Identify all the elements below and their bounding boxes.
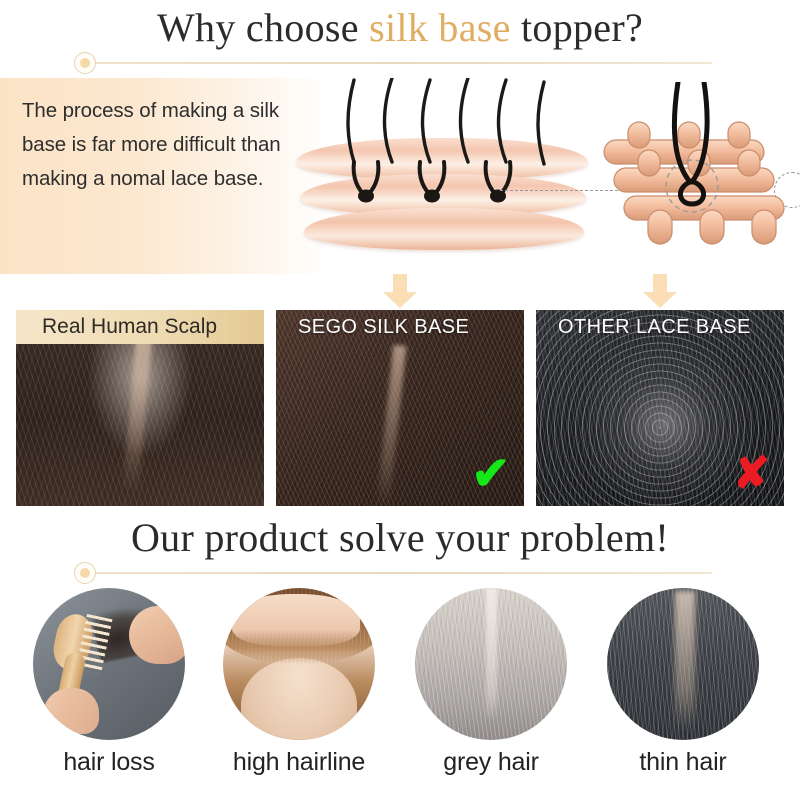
arrow-down-to-other: [643, 274, 677, 308]
section-title: Our product solve your problem!: [0, 514, 800, 561]
panel-real-human-scalp[interactable]: Real Human Scalp: [16, 310, 264, 506]
panel-label-real-scalp: Real Human Scalp: [16, 310, 264, 344]
knot-loops-icon: [296, 78, 596, 274]
section-heading-why-choose: Why choose silk base topper?: [0, 0, 800, 78]
problem-label-thin-hair: thin hair: [592, 748, 774, 777]
problem-item-thin-hair[interactable]: thin hair: [592, 588, 774, 777]
title-highlight: silk base: [369, 5, 511, 50]
high-hairline-image: [223, 588, 375, 740]
panel-other-lace-base[interactable]: OTHER LACE BASE ✘: [536, 310, 784, 506]
heading-divider-rule-2: [88, 572, 712, 574]
panel-label-sego-silk-base: SEGO SILK BASE: [276, 310, 524, 344]
arrow-down-to-sego: [383, 274, 417, 308]
panel-label-other-lace-base: OTHER LACE BASE: [536, 310, 784, 344]
grey-hair-image: [415, 588, 567, 740]
silk-base-layer-diagram: [296, 78, 596, 274]
problem-label-grey-hair: grey hair: [400, 748, 582, 777]
flow-arrow-row: [0, 274, 800, 310]
title-part-post: topper?: [511, 5, 643, 50]
hair-loss-image: [33, 588, 185, 740]
panel-sego-silk-base[interactable]: SEGO SILK BASE ✔: [276, 310, 524, 506]
knot-magnified-mesh: [600, 82, 800, 262]
problem-label-high-hairline: high hairline: [208, 748, 390, 777]
problem-label-hair-loss: hair loss: [18, 748, 200, 777]
problem-item-high-hairline[interactable]: high hairline: [208, 588, 390, 777]
problem-item-hair-loss[interactable]: hair loss: [18, 588, 200, 777]
title-part-pre: Why choose: [157, 5, 369, 50]
explainer-paragraph: The process of making a silk base is far…: [22, 94, 302, 196]
bullet-dot-icon-2: [74, 562, 96, 584]
heading-divider-rule: [88, 62, 712, 64]
section-heading-our-product: Our product solve your problem!: [0, 510, 800, 588]
check-mark-icon: ✔: [471, 450, 510, 496]
base-comparison-row: Real Human Scalp SEGO SILK BASE ✔ OTHER …: [0, 310, 800, 510]
problem-item-grey-hair[interactable]: grey hair: [400, 588, 582, 777]
bullet-dot-icon: [74, 52, 96, 74]
cross-mark-icon: ✘: [733, 452, 770, 496]
problem-circles-row: hair loss high hairline grey hair thin h…: [0, 588, 800, 793]
page-title: Why choose silk base topper?: [0, 4, 800, 51]
silk-base-explainer-row: The process of making a silk base is far…: [0, 78, 800, 274]
thin-hair-image: [607, 588, 759, 740]
